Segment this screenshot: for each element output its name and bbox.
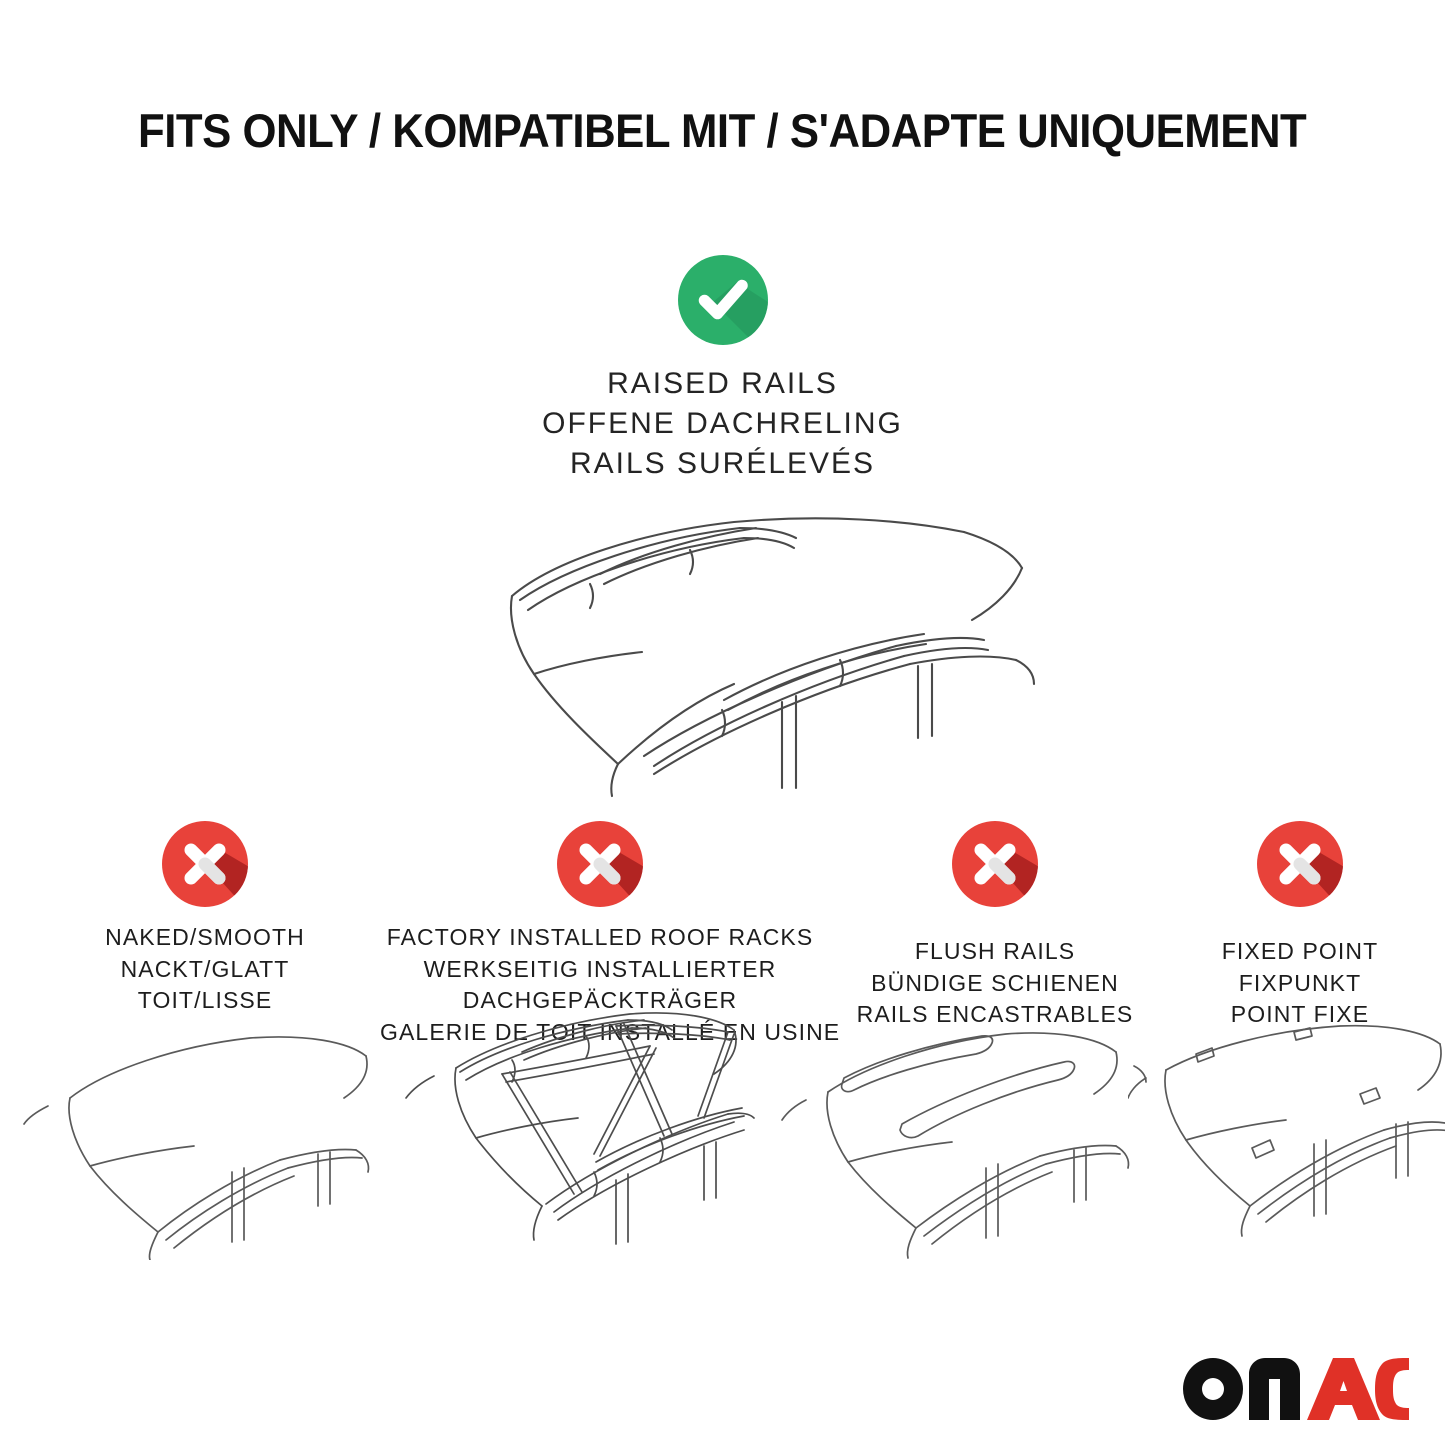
- naked-smooth-label-fr: TOIT/LISSE: [70, 985, 340, 1017]
- factory-racks-label-de1: WERKSEITIG INSTALLIERTER: [380, 954, 820, 986]
- red-cross-circle-icon: [1254, 818, 1346, 910]
- fixed-point-labels: FIXED POINT FIXPUNKT POINT FIXE: [1160, 936, 1440, 1031]
- omac-logo-text: OMAC: [1409, 1356, 1410, 1357]
- page-title: FITS ONLY / KOMPATIBEL MIT / S'ADAPTE UN…: [0, 103, 1445, 158]
- fixed-point-label-en: FIXED POINT: [1160, 936, 1440, 968]
- flush-rails-label-de: BÜNDIGE SCHIENEN: [840, 968, 1150, 1000]
- compatible-label-de: OFFENE DACHRELING: [0, 404, 1445, 444]
- incompatible-item-naked-smooth: NAKED/SMOOTH NACKT/GLATT TOIT/LISSE: [70, 818, 340, 1017]
- flush-rails-labels: FLUSH RAILS BÜNDIGE SCHIENEN RAILS ENCAS…: [840, 936, 1150, 1031]
- naked-smooth-label-de: NACKT/GLATT: [70, 954, 340, 986]
- factory-racks-label-en: FACTORY INSTALLED ROOF RACKS: [380, 922, 820, 954]
- red-cross-circle-icon: [159, 818, 251, 910]
- compatible-label-en: RAISED RAILS: [0, 364, 1445, 404]
- raised-rails-illustration: [404, 488, 1064, 808]
- factory-racks-illustration: [398, 1004, 768, 1265]
- green-check-circle-icon: [675, 252, 771, 348]
- naked-smooth-illustration: [18, 1020, 388, 1265]
- naked-smooth-labels: NAKED/SMOOTH NACKT/GLATT TOIT/LISSE: [70, 922, 340, 1017]
- red-cross-circle-icon: [554, 818, 646, 910]
- flush-rails-label-en: FLUSH RAILS: [840, 936, 1150, 968]
- compatible-label-fr: RAILS SURÉLEVÉS: [0, 444, 1445, 484]
- naked-smooth-label-en: NAKED/SMOOTH: [70, 922, 340, 954]
- compatible-section: RAISED RAILS OFFENE DACHRELING RAILS SUR…: [0, 252, 1445, 484]
- incompatible-item-flush-rails: FLUSH RAILS BÜNDIGE SCHIENEN RAILS ENCAS…: [840, 818, 1150, 1031]
- fitment-infographic: FITS ONLY / KOMPATIBEL MIT / S'ADAPTE UN…: [0, 0, 1445, 1445]
- compatible-labels: RAISED RAILS OFFENE DACHRELING RAILS SUR…: [0, 364, 1445, 484]
- incompatible-item-fixed-point: FIXED POINT FIXPUNKT POINT FIXE: [1160, 818, 1440, 1031]
- red-cross-circle-icon: [949, 818, 1041, 910]
- fixed-point-illustration: [1128, 1020, 1445, 1265]
- page-title-text: FITS ONLY / KOMPATIBEL MIT / S'ADAPTE UN…: [138, 103, 1306, 158]
- flush-rails-illustration: [778, 1020, 1148, 1265]
- omac-logo: OMAC: [1183, 1356, 1409, 1422]
- fixed-point-label-de: FIXPUNKT: [1160, 968, 1440, 1000]
